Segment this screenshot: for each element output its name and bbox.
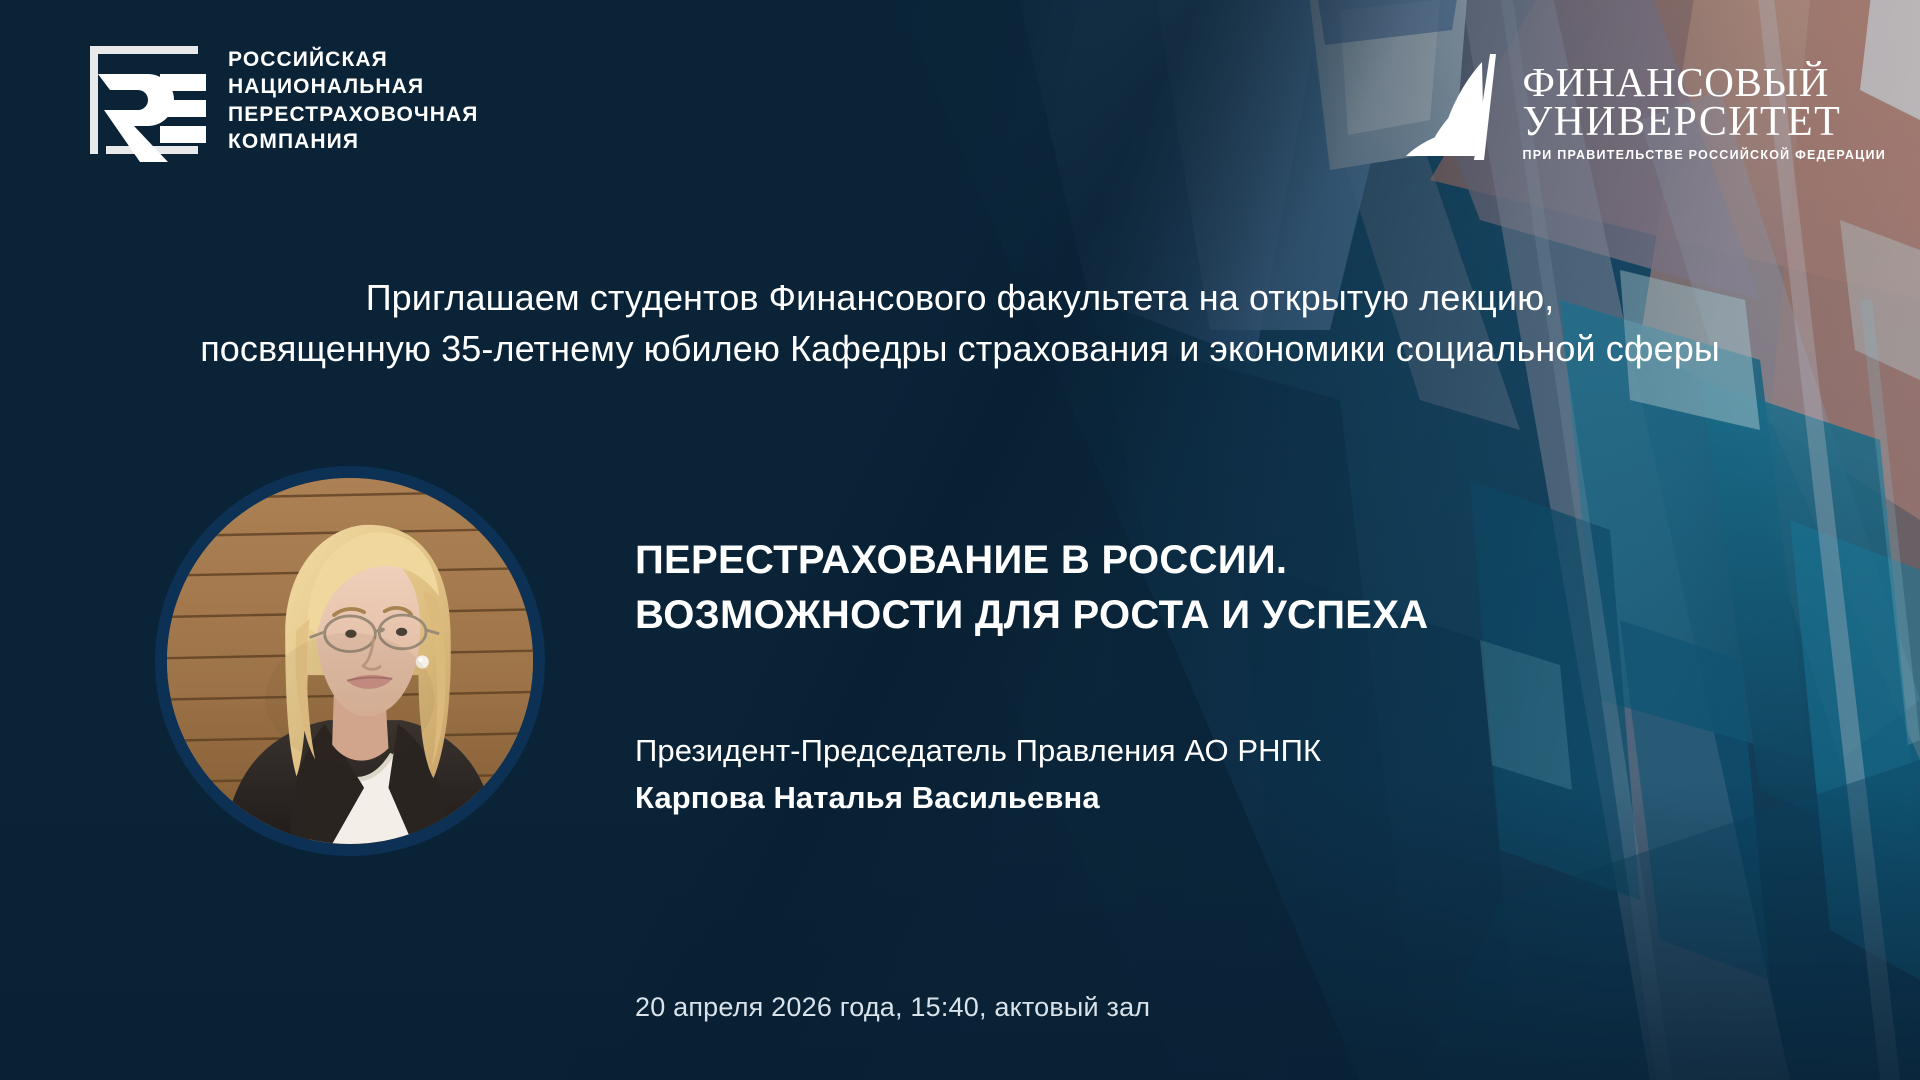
lecture-announcement-poster: РОССИЙСКАЯ НАЦИОНАЛЬНАЯ ПЕРЕСТРАХОВОЧНАЯ… [0, 0, 1920, 1080]
finuniver-wordmark: ФИНАНСОВЫЙ УНИВЕРСИТЕТ ПРИ ПРАВИТЕЛЬСТВЕ… [1522, 48, 1886, 162]
speaker-role: Президент-Председатель Правления АО РНПК [635, 727, 1815, 774]
rnpk-logo: РОССИЙСКАЯ НАЦИОНАЛЬНАЯ ПЕРЕСТРАХОВОЧНАЯ… [82, 38, 478, 162]
finuniver-year-1919: 1919 [1424, 144, 1444, 154]
speaker-portrait [155, 466, 545, 856]
finuniver-sail-emblem-icon: 1919 [1404, 52, 1508, 164]
lecture-title: ПЕРЕСТРАХОВАНИЕ В РОССИИ. ВОЗМОЖНОСТИ ДЛ… [635, 533, 1815, 643]
invitation-text: Приглашаем студентов Финансового факульт… [0, 272, 1920, 374]
invitation-line-2: посвященную 35-летнему юбилею Кафедры ст… [0, 323, 1920, 374]
lecture-title-line-1: ПЕРЕСТРАХОВАНИЕ В РОССИИ. [635, 533, 1815, 588]
finuniver-line2: УНИВЕРСИТЕТ [1522, 99, 1841, 145]
speaker-photo [167, 478, 533, 844]
rnpk-re-mark-icon [82, 38, 206, 162]
finuniver-line1: ФИНАНСОВЫЙ [1522, 59, 1829, 105]
finuniver-subtitle: ПРИ ПРАВИТЕЛЬСТВЕ РОССИЙСКОЙ ФЕДЕРАЦИИ [1522, 148, 1886, 162]
invitation-line-1: Приглашаем студентов Финансового факульт… [0, 272, 1920, 323]
lecture-title-line-2: ВОЗМОЖНОСТИ ДЛЯ РОСТА И УСПЕХА [635, 588, 1815, 643]
event-datetime-location: 20 апреля 2026 года, 15:40, актовый зал [635, 992, 1150, 1023]
rnpk-wordmark: РОССИЙСКАЯ НАЦИОНАЛЬНАЯ ПЕРЕСТРАХОВОЧНАЯ… [228, 38, 478, 155]
speaker-block: Президент-Председатель Правления АО РНПК… [635, 727, 1815, 821]
speaker-name: Карпова Наталья Васильевна [635, 774, 1815, 821]
financial-university-logo: 1919 ФИНАНСОВЫЙ УНИВЕРСИТЕТ ПРИ ПРАВИТЕЛ… [1404, 48, 1886, 164]
